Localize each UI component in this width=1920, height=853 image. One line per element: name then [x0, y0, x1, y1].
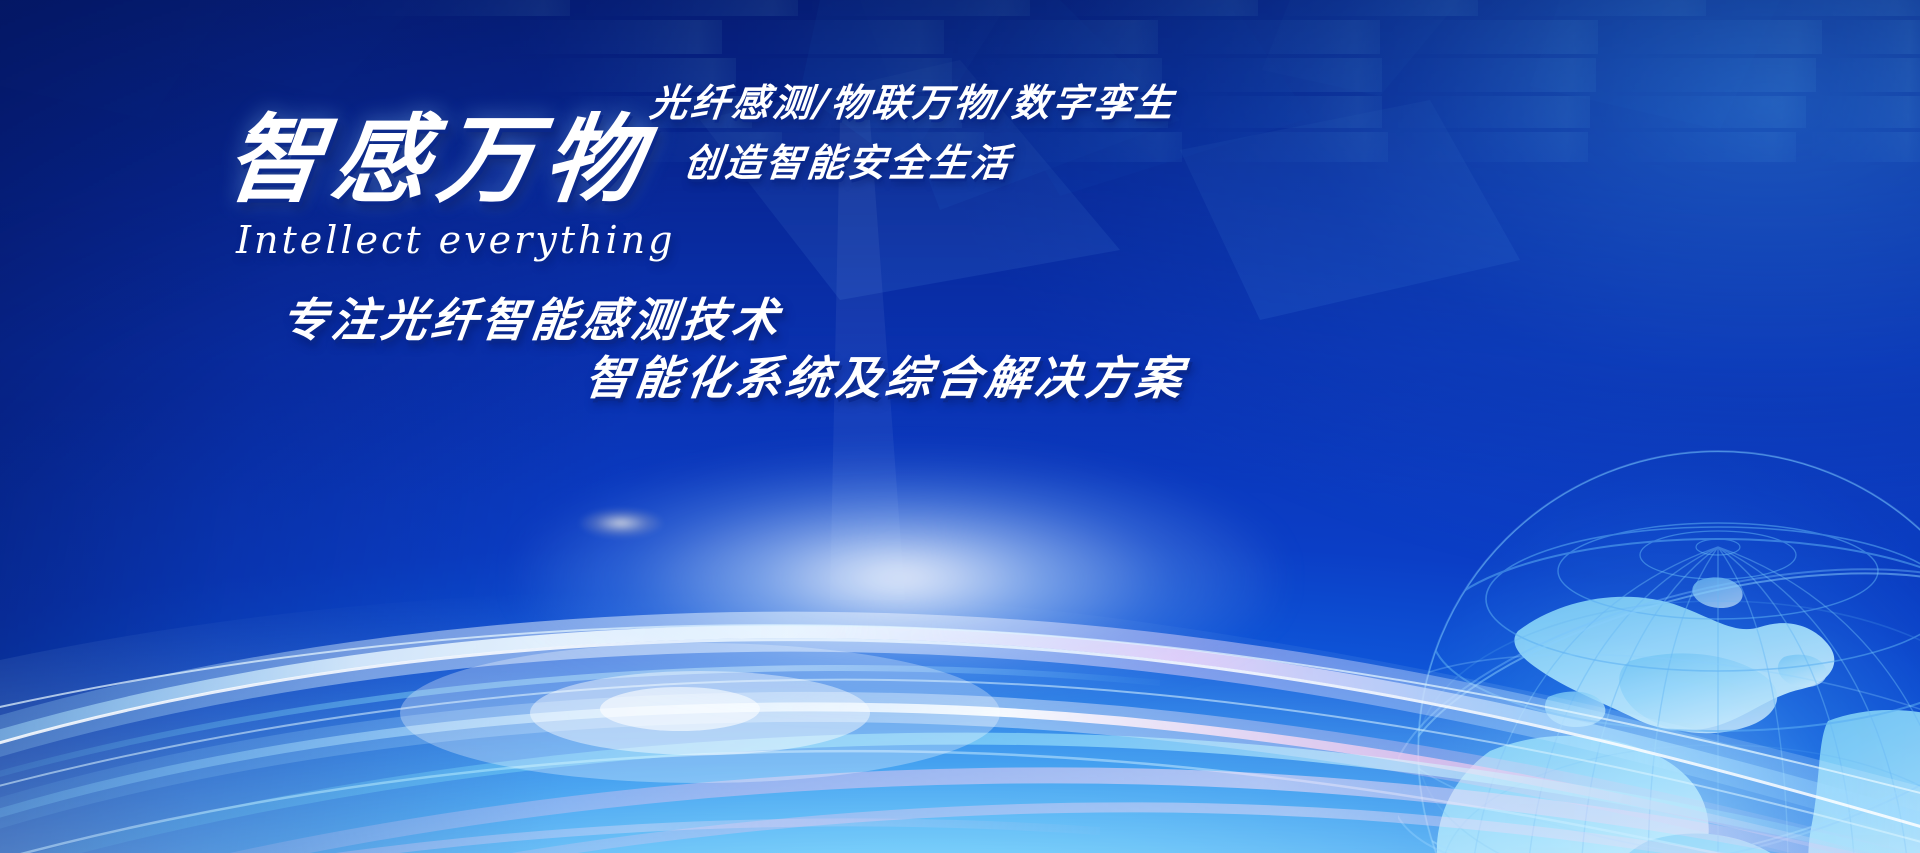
slogan-line-1: 光纤感测/物联万物/数字孪生	[648, 84, 1232, 122]
headline-chinese: 智感万物	[219, 82, 660, 221]
tagline-1: 专注光纤智能感测技术	[278, 284, 786, 350]
tagline-2: 智能化系统及综合解决方案	[582, 342, 1190, 408]
promotional-banner: 智感万物 Intellect everything 光纤感测/物联万物/数字孪生…	[0, 0, 1920, 853]
slogan-block: 光纤感测/物联万物/数字孪生 创造智能安全生活	[650, 84, 1230, 182]
slogan-line-2: 创造智能安全生活	[682, 144, 1232, 182]
banner-text-layer: 智感万物 Intellect everything 光纤感测/物联万物/数字孪生…	[0, 0, 1920, 853]
headline-english: Intellect everything	[236, 218, 675, 262]
